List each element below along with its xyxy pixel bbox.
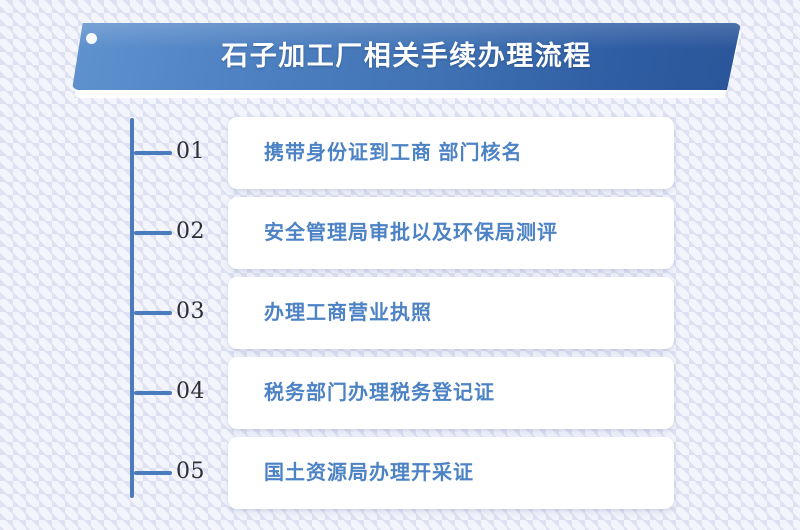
step-card[interactable]: 国土资源局办理开采证 <box>228 437 674 509</box>
infographic-page: 石子加工厂相关手续办理流程 01 携带身份证到工商 部门核名 02 安全管理局审… <box>0 0 800 530</box>
timeline-tick-icon <box>134 231 172 235</box>
banner-ribbon: 石子加工厂相关手续办理流程 <box>72 23 741 90</box>
step-card[interactable]: 办理工商营业执照 <box>228 277 674 349</box>
step-card[interactable]: 安全管理局审批以及环保局测评 <box>228 197 674 269</box>
step-card[interactable]: 税务部门办理税务登记证 <box>228 357 674 429</box>
step-number: 03 <box>176 295 220 329</box>
step-label: 国土资源局办理开采证 <box>264 437 660 509</box>
step-number: 01 <box>176 135 220 169</box>
timeline-tick-icon <box>134 471 172 475</box>
step-number: 04 <box>176 375 220 409</box>
step-label: 安全管理局审批以及环保局测评 <box>264 197 660 269</box>
timeline-step[interactable]: 04 税务部门办理税务登记证 <box>0 353 800 433</box>
timeline-tick-icon <box>134 151 172 155</box>
page-title: 石子加工厂相关手续办理流程 <box>72 23 741 90</box>
step-number: 02 <box>176 215 220 249</box>
timeline-step[interactable]: 05 国土资源局办理开采证 <box>0 433 800 513</box>
step-label: 办理工商营业执照 <box>264 277 660 349</box>
step-number: 05 <box>176 455 220 489</box>
step-label: 税务部门办理税务登记证 <box>264 357 660 429</box>
timeline-steps-list: 01 携带身份证到工商 部门核名 02 安全管理局审批以及环保局测评 03 办理… <box>0 113 800 513</box>
header-banner: 石子加工厂相关手续办理流程 <box>64 20 744 102</box>
step-label: 携带身份证到工商 部门核名 <box>264 117 660 189</box>
timeline-tick-icon <box>134 391 172 395</box>
timeline-step[interactable]: 03 办理工商营业执照 <box>0 273 800 353</box>
step-card[interactable]: 携带身份证到工商 部门核名 <box>228 117 674 189</box>
timeline-step[interactable]: 01 携带身份证到工商 部门核名 <box>0 113 800 193</box>
timeline-tick-icon <box>134 311 172 315</box>
timeline-step[interactable]: 02 安全管理局审批以及环保局测评 <box>0 193 800 273</box>
